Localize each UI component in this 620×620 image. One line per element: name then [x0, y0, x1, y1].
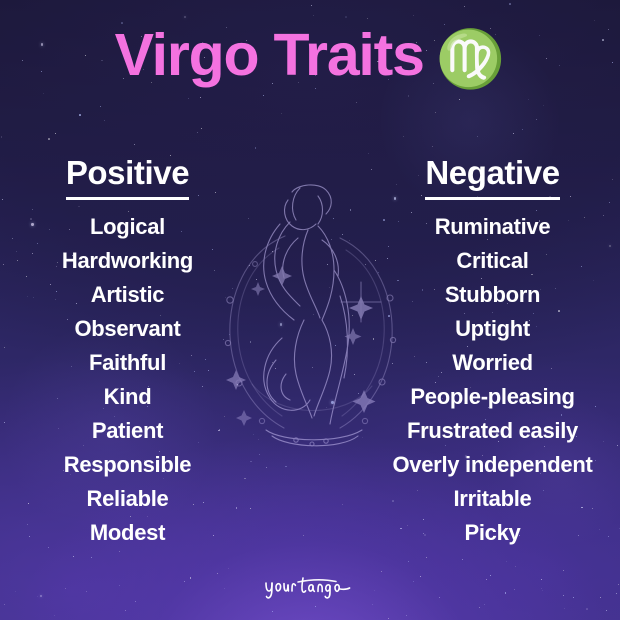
star-dot — [479, 607, 480, 608]
positive-trait-item: Hardworking — [0, 244, 255, 278]
star-dot — [200, 97, 201, 98]
negative-trait-item: Frustrated easily — [365, 414, 620, 448]
star-dot — [184, 16, 186, 18]
negative-traits-list: RuminativeCriticalStubbornUptightWorried… — [365, 210, 620, 550]
star-dot — [388, 618, 389, 619]
star-dot — [426, 557, 427, 558]
star-dot — [134, 144, 135, 145]
star-dot — [403, 136, 404, 137]
positive-trait-item: Kind — [0, 380, 255, 414]
star-dot — [272, 611, 273, 612]
positive-trait-item: Logical — [0, 210, 255, 244]
negative-trait-item: Ruminative — [365, 210, 620, 244]
star-dot — [201, 128, 202, 129]
star-dot — [188, 98, 189, 99]
negative-trait-item: Overly independent — [365, 448, 620, 482]
brand-logo: YourTango — [0, 575, 620, 606]
star-dot — [606, 610, 607, 611]
star-dot — [313, 15, 314, 16]
star-dot — [413, 15, 414, 16]
star-dot — [528, 99, 529, 100]
virgo-traits-poster: Virgo Traits♍ — [0, 0, 620, 620]
star-dot — [228, 568, 229, 569]
positive-trait-item: Modest — [0, 516, 255, 550]
poster-title: Virgo Traits♍ — [0, 26, 620, 85]
positive-trait-item: Reliable — [0, 482, 255, 516]
star-dot — [432, 146, 433, 147]
star-dot — [564, 608, 565, 609]
star-dot — [462, 559, 463, 560]
star-dot — [281, 113, 282, 114]
positive-trait-item: Patient — [0, 414, 255, 448]
negative-trait-item: Uptight — [365, 312, 620, 346]
star-dot — [197, 132, 198, 133]
star-dot — [43, 93, 44, 94]
star-dot — [459, 99, 460, 100]
star-dot — [515, 566, 516, 567]
star-dot — [477, 136, 478, 137]
star-dot — [406, 615, 407, 616]
positive-traits-list: LogicalHardworkingArtisticObservantFaith… — [0, 210, 255, 550]
star-dot — [315, 606, 316, 607]
yourtango-wordmark-icon: YourTango — [262, 575, 358, 601]
negative-column-heading: Negative — [425, 155, 559, 200]
star-dot — [217, 573, 218, 574]
positive-trait-item: Artistic — [0, 278, 255, 312]
star-dot — [91, 557, 92, 558]
star-dot — [536, 119, 537, 120]
star-dot — [55, 133, 56, 134]
star-dot — [1, 136, 3, 138]
star-dot — [408, 95, 410, 97]
star-dot — [367, 18, 368, 19]
column-spacer — [255, 155, 365, 550]
star-dot — [513, 133, 514, 134]
star-dot — [104, 120, 105, 121]
star-dot — [100, 106, 101, 107]
star-dot — [356, 102, 357, 103]
star-dot — [345, 16, 347, 18]
star-dot — [522, 129, 523, 130]
traits-columns: Positive LogicalHardworkingArtisticObser… — [0, 155, 620, 550]
positive-trait-item: Faithful — [0, 346, 255, 380]
positive-trait-item: Observant — [0, 312, 255, 346]
star-dot — [586, 608, 588, 610]
star-dot — [54, 615, 55, 616]
positive-column-heading: Positive — [66, 155, 189, 200]
positive-traits-column: Positive LogicalHardworkingArtisticObser… — [0, 155, 255, 550]
star-dot — [464, 6, 465, 7]
star-dot — [73, 556, 74, 557]
virgo-zodiac-glyph-icon: ♍ — [436, 31, 506, 87]
positive-trait-item: Responsible — [0, 448, 255, 482]
star-dot — [543, 105, 544, 106]
star-dot — [263, 95, 264, 96]
star-dot — [509, 3, 511, 5]
negative-trait-item: People-pleasing — [365, 380, 620, 414]
negative-trait-item: Worried — [365, 346, 620, 380]
star-dot — [311, 5, 312, 6]
star-dot — [381, 571, 382, 572]
star-dot — [435, 112, 436, 113]
star-dot — [48, 138, 50, 140]
star-dot — [594, 20, 595, 21]
star-dot — [563, 570, 564, 571]
star-dot — [125, 610, 126, 611]
star-dot — [315, 88, 316, 89]
negative-trait-item: Stubborn — [365, 278, 620, 312]
star-dot — [79, 114, 81, 116]
negative-trait-item: Picky — [365, 516, 620, 550]
star-dot — [408, 561, 409, 562]
negative-trait-item: Critical — [365, 244, 620, 278]
negative-trait-item: Irritable — [365, 482, 620, 516]
negative-traits-column: Negative RuminativeCriticalStubbornUptig… — [365, 155, 620, 550]
title-text: Virgo Traits — [115, 26, 424, 85]
star-dot — [506, 561, 507, 562]
star-dot — [255, 147, 257, 149]
star-dot — [119, 551, 120, 552]
